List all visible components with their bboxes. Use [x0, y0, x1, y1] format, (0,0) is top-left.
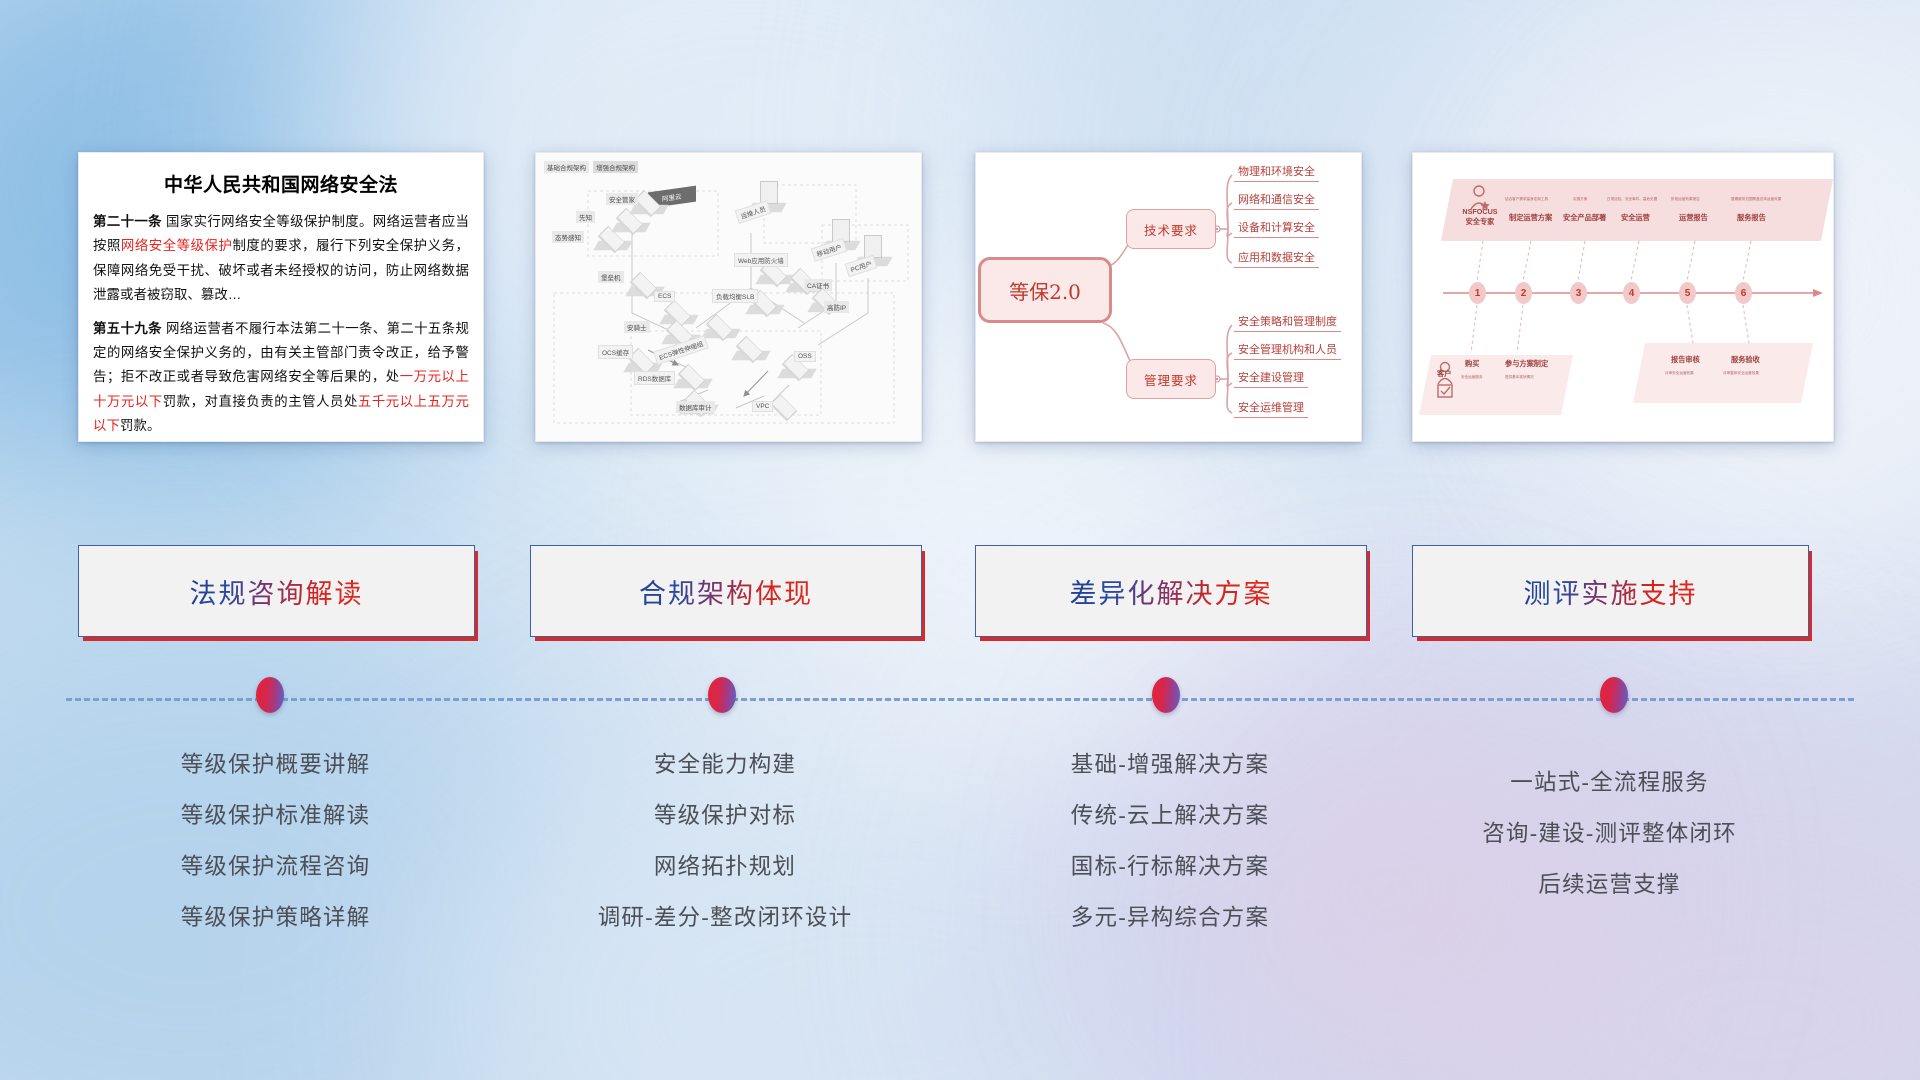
detail-item: 多元-异构综合方案 [975, 893, 1365, 944]
nsfocus-step-desc: 日常巡检、安全事件、高危处置 [1607, 197, 1657, 202]
law-run: 罚款。 [120, 418, 160, 433]
architecture-tab-basic[interactable]: 基础合规架构 [544, 161, 589, 173]
nsfocus-marker: 4 [1623, 282, 1640, 304]
heading-row: 法规咨询解读 合规架构体现 差异化解决方案 测评实施支持 [0, 545, 1920, 650]
nsfocus-marker: 5 [1679, 282, 1696, 304]
nsfocus-marker: 3 [1570, 282, 1587, 304]
node-security-butler: 安全管家 [606, 193, 638, 205]
detail-item: 后续运营支撑 [1412, 860, 1807, 911]
nsfocus-step-desc: 阶段运营效果报告 [1671, 197, 1700, 202]
detail-column-2: 安全能力构建 等级保护对标 网络拓扑规划 调研-差分-整改闭环设计 [530, 740, 920, 944]
law-paragraph-59: 第五十九条 网络运营者不履行本法第二十一条、第二十五条规定的网络安全保护义务的，… [93, 317, 469, 439]
mindmap-leaf: 安全管理机构和人员 [1234, 341, 1341, 360]
nsfocus-step-title: 安全运营 [1621, 213, 1650, 223]
mindmap-leaf: 安全运维管理 [1234, 399, 1308, 418]
node-vpc: VPC [752, 401, 773, 412]
node-ecs: ECS [654, 291, 675, 302]
detail-item: 国标-行标解决方案 [975, 842, 1365, 893]
heading-label: 测评实施支持 [1524, 572, 1698, 611]
mindmap-leaf: 设备和计算安全 [1234, 219, 1319, 238]
detail-item: 等级保护对标 [530, 791, 920, 842]
heading-label: 差异化解决方案 [1070, 572, 1273, 611]
nsfocus-step-title: 服务报告 [1737, 213, 1766, 223]
nsfocus-step-title: 报告审核 [1671, 355, 1700, 365]
nsfocus-step-desc: 安全运营服务 [1461, 375, 1483, 380]
mindmap-leaf: 安全策略和管理制度 [1234, 313, 1341, 332]
card-row: 中华人民共和国网络安全法 第二十一条 国家实行网络安全等级保护制度。网络运营者应… [0, 152, 1920, 452]
detail-item: 基础-增强解决方案 [975, 740, 1365, 791]
nsfocus-step-title: 购买 [1465, 359, 1479, 369]
detail-item: 等级保护标准解读 [78, 791, 473, 842]
detail-columns: 等级保护概要讲解 等级保护标准解读 等级保护流程咨询 等级保护策略详解 安全能力… [0, 740, 1920, 970]
mindmap-leaf: 网络和通信安全 [1234, 191, 1319, 210]
architecture-card: 基础合规架构 增强合规架构 阿里云 态势感知 先知 安全管家 堡垒机 ECS 安… [535, 152, 922, 442]
detail-item: 等级保护概要讲解 [78, 740, 473, 791]
law-card: 中华人民共和国网络安全法 第二十一条 国家实行网络安全等级保护制度。网络运营者应… [78, 152, 484, 442]
detail-item: 一站式-全流程服务 [1412, 758, 1807, 809]
heading-box-1[interactable]: 法规咨询解读 [78, 545, 475, 637]
node-ocs-cache: OCS缓存 [598, 345, 633, 359]
nsfocus-expert-role: 安全专家 [1457, 217, 1503, 227]
detail-column-1: 等级保护概要讲解 等级保护标准解读 等级保护流程咨询 等级保护策略详解 [78, 740, 473, 944]
detail-item: 安全能力构建 [530, 740, 920, 791]
nsfocus-marker: 6 [1735, 282, 1752, 304]
nsfocus-step-title: 安全产品部署 [1563, 213, 1606, 223]
nsfocus-step-title: 参与方案制定 [1505, 359, 1548, 369]
nsfocus-step-desc: 评审整体安全运营效果 [1723, 371, 1759, 376]
timeline [0, 690, 1920, 730]
heading-label: 合规架构体现 [639, 572, 813, 611]
heading-label: 法规咨询解读 [190, 572, 364, 611]
mindmap-leaf: 物理和环境安全 [1234, 163, 1319, 182]
architecture-tab-enhanced[interactable]: 增强合规架构 [593, 161, 638, 173]
mindmap-root: 等保2.0 [978, 257, 1112, 323]
node-anti-ddos-ip: 高防IP [824, 301, 849, 313]
nsfocus-step-title: 运营报告 [1679, 213, 1708, 223]
mindmap-branch-technical: 技术要求 [1126, 209, 1216, 249]
mindmap-branch-management: 管理要求 [1126, 359, 1216, 399]
nsfocus-step-desc: 结合客户需求量身定制工具 [1505, 197, 1548, 202]
timeline-dot[interactable] [256, 677, 284, 713]
node-xianzhi: 先知 [576, 211, 595, 223]
node-slb: 负载均衡SLB [712, 289, 758, 303]
mindmap-leaf: 应用和数据安全 [1234, 249, 1319, 268]
timeline-dot[interactable] [1600, 677, 1628, 713]
law-article-number: 第五十九条 [93, 321, 162, 336]
heading-box-3[interactable]: 差异化解决方案 [975, 545, 1367, 637]
law-article-number: 第二十一条 [93, 214, 162, 229]
node-situational-awareness: 态势感知 [552, 231, 584, 243]
timeline-dot[interactable] [1152, 677, 1180, 713]
heading-box-2[interactable]: 合规架构体现 [530, 545, 922, 637]
nsfocus-step-desc: 评审安全运营效果 [1665, 371, 1694, 376]
detail-item: 调研-差分-整改闭环设计 [530, 893, 920, 944]
timeline-dot[interactable] [708, 677, 736, 713]
node-oss: OSS [794, 351, 816, 362]
law-title: 中华人民共和国网络安全法 [79, 170, 483, 197]
timeline-line [66, 698, 1854, 701]
law-run-highlight: 网络安全等级保护 [121, 238, 233, 253]
node-anqishi: 安骑士 [624, 321, 650, 333]
detail-item: 等级保护策略详解 [78, 893, 473, 944]
detail-item: 传统-云上解决方案 [975, 791, 1365, 842]
node-bastion-host: 堡垒机 [598, 271, 624, 283]
node-rds-db: RDS数据库 [634, 371, 675, 385]
detail-item: 咨询-建设-测评整体闭环 [1412, 809, 1807, 860]
nsfocus-step-desc: 提供基本现状情况 [1505, 375, 1534, 380]
nsfocus-step-title: 制定运营方案 [1509, 213, 1552, 223]
nsfocus-step-desc: 实施方案 [1573, 197, 1587, 202]
node-ca-cert: CA证书 [804, 279, 832, 291]
nsfocus-marker: 2 [1515, 282, 1532, 304]
detail-item: 等级保护流程咨询 [78, 842, 473, 893]
mindmap-card: 等保2.0 技术要求 物理和环境安全 网络和通信安全 设备和计算安全 应用和数据… [975, 152, 1362, 442]
detail-column-4: 一站式-全流程服务 咨询-建设-测评整体闭环 后续运营支撑 [1412, 758, 1807, 911]
detail-item: 网络拓扑规划 [530, 842, 920, 893]
nsfocus-card: NSFOCUS 安全专家 结合客户需求量身定制工具 制定运营方案 实施方案 安全… [1412, 152, 1834, 442]
nsfocus-customer-role: 客户 [1437, 369, 1451, 379]
nsfocus-step-desc: 整期服务范围覆盖总体运营效果 [1731, 197, 1781, 202]
detail-column-3: 基础-增强解决方案 传统-云上解决方案 国标-行标解决方案 多元-异构综合方案 [975, 740, 1365, 944]
mindmap-leaf: 安全建设管理 [1234, 369, 1308, 388]
nsfocus-marker: 1 [1469, 282, 1486, 304]
node-db-audit: 数据库审计 [676, 401, 715, 413]
heading-box-4[interactable]: 测评实施支持 [1412, 545, 1809, 637]
nsfocus-step-title: 服务验收 [1731, 355, 1760, 365]
nsfocus-brand: NSFOCUS [1457, 207, 1503, 216]
law-run: 罚款，对直接负责的主管人员处 [163, 394, 358, 409]
law-paragraph-21: 第二十一条 国家实行网络安全等级保护制度。网络运营者应当按照网络安全等级保护制度… [93, 210, 469, 308]
node-waf: Web应用防火墙 [734, 253, 788, 267]
